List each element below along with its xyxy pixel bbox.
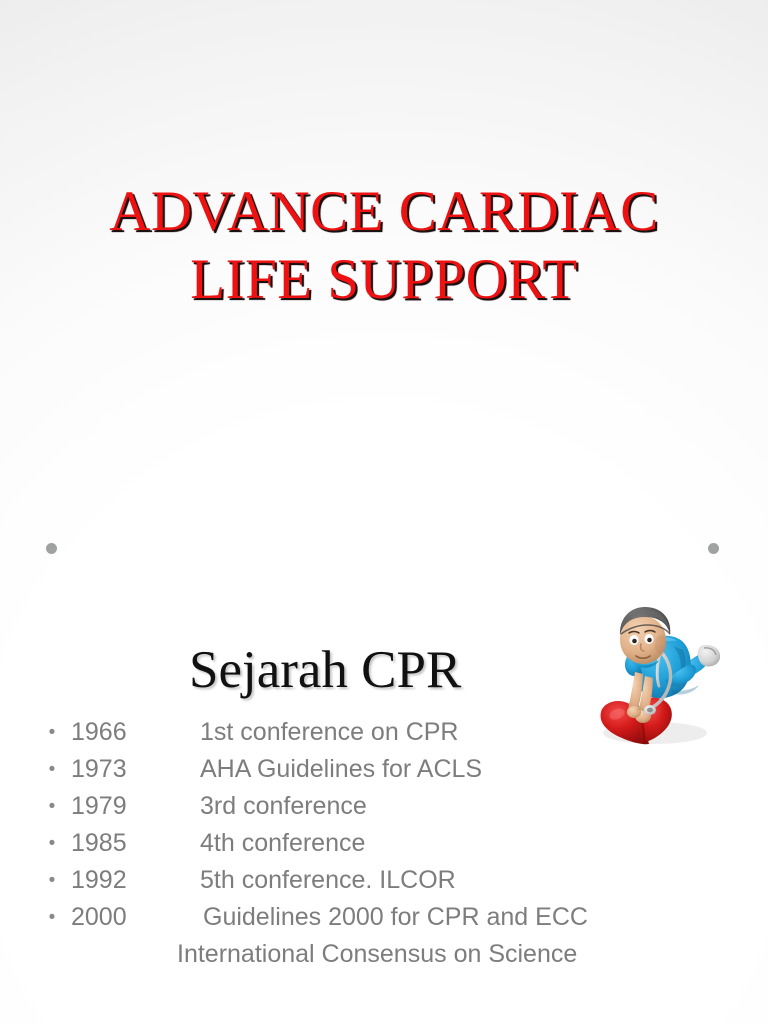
list-item-desc: AHA Guidelines for ACLS <box>200 751 482 788</box>
bullet-icon: • <box>44 825 60 862</box>
title-line-2: LIFE SUPPORT <box>0 246 768 314</box>
list-item: • 1992 5th conference. ILCOR <box>40 862 740 899</box>
bullet-icon: • <box>44 862 60 899</box>
list-item: • 2000 Guidelines 2000 for CPR and ECC <box>40 899 740 936</box>
cpr-medic-heart-clipart <box>577 590 736 757</box>
list-item-desc: 1st conference on CPR <box>200 714 458 751</box>
list-item-year: 1992 <box>71 862 127 899</box>
list-item: • 1979 3rd conference <box>40 788 740 825</box>
list-item-year: 1966 <box>71 714 127 751</box>
list-item-continuation: International Consensus on Science <box>40 936 740 973</box>
slide-canvas: ADVANCE CARDIAC LIFE SUPPORT Sejarah CPR… <box>0 0 768 1024</box>
list-item-year: 2000 <box>71 899 127 936</box>
list-item-year: 1973 <box>71 751 127 788</box>
bullet-icon: • <box>44 788 60 825</box>
list-item-year: 1985 <box>71 825 127 862</box>
list-item-desc: 5th conference. ILCOR <box>200 862 456 899</box>
list-item-year: 1979 <box>71 788 127 825</box>
bullet-dot-right-icon <box>708 543 719 554</box>
page-title: ADVANCE CARDIAC LIFE SUPPORT <box>0 178 768 314</box>
section-heading: Sejarah CPR <box>189 641 461 699</box>
list-item-desc: 4th conference <box>200 825 365 862</box>
bullet-dot-left-icon <box>46 543 57 554</box>
bullet-icon: • <box>44 751 60 788</box>
list-item: • 1985 4th conference <box>40 825 740 862</box>
bullet-icon: • <box>44 899 60 936</box>
bullet-icon: • <box>44 714 60 751</box>
title-line-1: ADVANCE CARDIAC <box>0 178 768 246</box>
list-item-continuation-text: International Consensus on Science <box>177 936 577 973</box>
list-item-desc: 3rd conference <box>200 788 367 825</box>
list-item-desc: Guidelines 2000 for CPR and ECC <box>203 899 588 936</box>
